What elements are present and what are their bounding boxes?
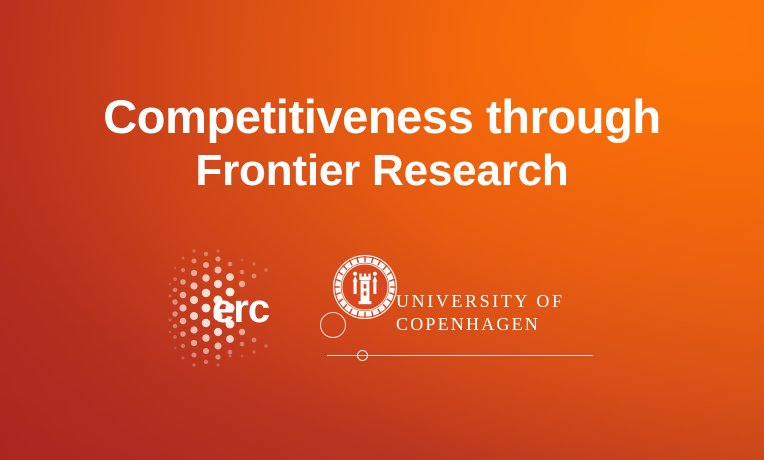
logo-band: erc [0,248,764,368]
ucph-wordmark: UNIVERSITY OF COPENHAGEN [396,290,600,336]
title-line-2: Frontier Research [0,146,764,196]
university-of-copenhagen-logo: UNIVERSITY OF COPENHAGEN [310,254,600,362]
ucph-wordmark-line-2: COPENHAGEN [396,313,600,336]
erc-logo: erc [168,248,290,368]
ucph-decorative-ring [320,312,346,338]
ucph-wordmark-line-1: UNIVERSITY OF [396,290,600,313]
title-line-1: Competitiveness through [0,92,764,142]
ucph-decorative-rule-dot [357,350,368,361]
promotional-banner: Competitiveness through Frontier Researc… [0,0,764,460]
page-title: Competitiveness through Frontier Researc… [0,92,764,196]
erc-wordmark: erc [212,288,290,330]
ucph-seal-icon [332,254,398,320]
